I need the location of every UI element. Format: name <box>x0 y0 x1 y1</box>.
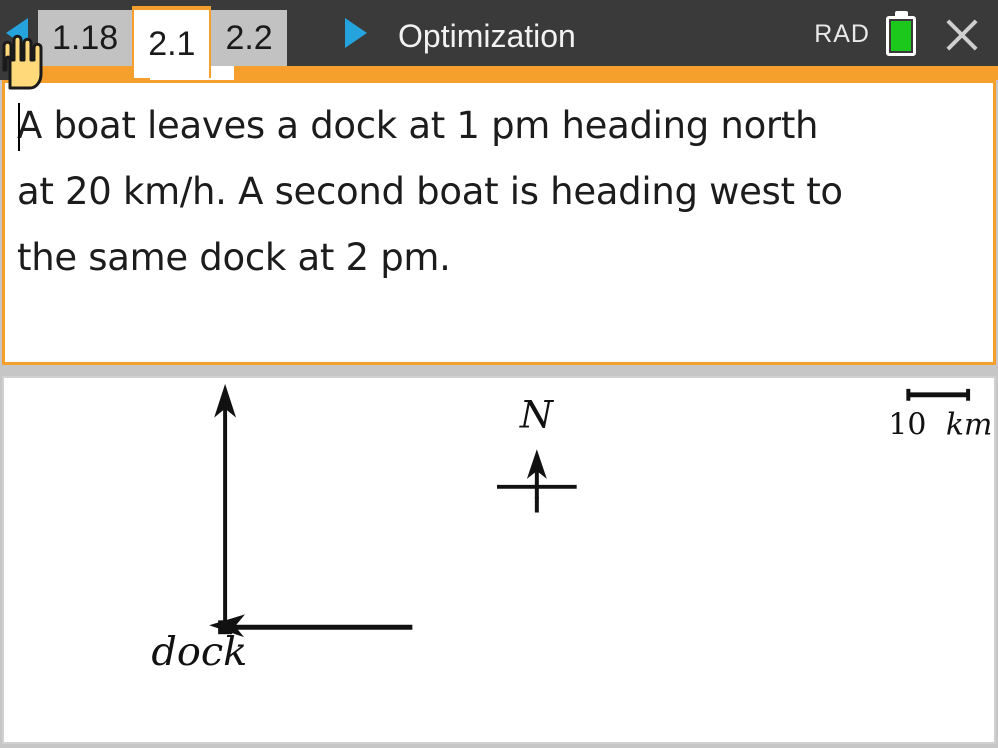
page-tabstrip: 1.18 2.1 2.2 <box>38 10 287 66</box>
chevron-left-icon[interactable] <box>6 18 28 48</box>
battery-fill <box>891 21 911 51</box>
tab-1-18[interactable]: 1.18 <box>38 10 132 66</box>
chevron-right-icon[interactable] <box>345 18 367 48</box>
battery-full-icon <box>886 11 920 57</box>
compass-north-icon: N <box>497 393 577 513</box>
problem-statement: A boat leaves a dock at 1 pm heading nor… <box>17 93 983 291</box>
accent-strip-left-gap <box>0 66 22 80</box>
angle-mode-indicator[interactable]: RAD <box>814 20 870 49</box>
calculator-screen: 1.18 2.1 2.2 Optimization RAD <box>0 0 998 748</box>
problem-text-panel[interactable]: A boat leaves a dock at 1 pm heading nor… <box>2 80 996 365</box>
scale-label: 10 km <box>888 407 992 442</box>
dock-label: dock <box>151 629 247 675</box>
tab-label: 1.18 <box>52 21 118 55</box>
scale-unit: km <box>946 407 992 442</box>
problem-line-3: the same dock at 2 pm. <box>17 225 983 291</box>
compass-label: N <box>519 393 555 437</box>
tab-label: 2.2 <box>225 21 272 55</box>
problem-line-2: at 20 km/h. A second boat is heading wes… <box>17 159 983 225</box>
close-icon[interactable] <box>940 13 984 57</box>
diagram-panel[interactable]: dock N 10 km <box>2 376 996 744</box>
problem-line-1: A boat leaves a dock at 1 pm heading nor… <box>17 93 983 159</box>
tab-2-2[interactable]: 2.2 <box>211 10 286 66</box>
title-bar: 1.18 2.1 2.2 Optimization RAD <box>0 0 998 66</box>
scale-value: 10 <box>888 407 926 442</box>
text-caret <box>18 103 20 151</box>
scale-bar-icon <box>908 389 968 401</box>
page-title: Optimization <box>398 18 576 55</box>
tab-label: 2.1 <box>148 27 195 61</box>
tab-2-1[interactable]: 2.1 <box>132 6 211 78</box>
boat-dock-diagram: dock N 10 km <box>4 378 994 742</box>
north-travel-arrow <box>214 384 236 627</box>
